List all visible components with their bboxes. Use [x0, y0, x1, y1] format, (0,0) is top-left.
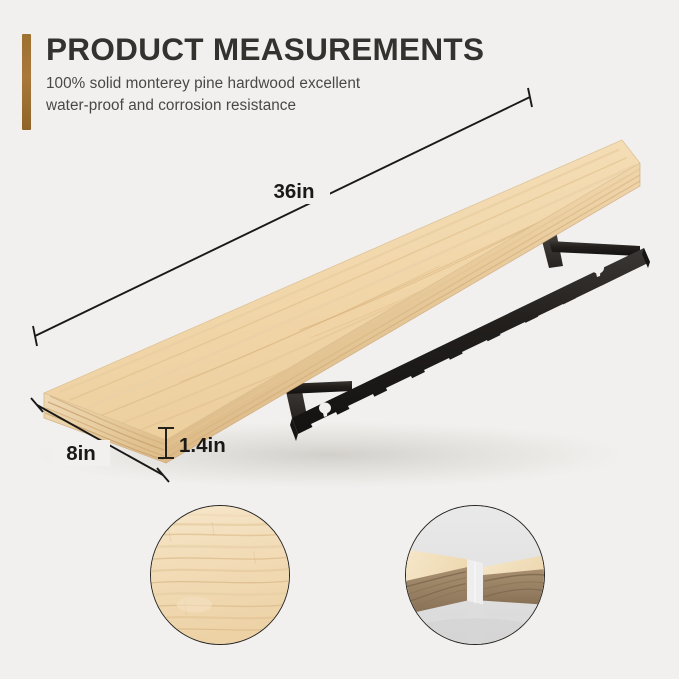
wall-mount-bracket — [283, 231, 650, 441]
shelf-left-end — [44, 393, 166, 463]
dimension-length — [33, 88, 532, 346]
dimension-label-depth: 8in — [66, 442, 96, 465]
page-title: PRODUCT MEASUREMENTS — [46, 32, 562, 66]
detail-circle-grain — [150, 505, 290, 645]
dimension-tick-left — [33, 326, 37, 346]
detail-circle-edge — [405, 505, 545, 645]
header: PRODUCT MEASUREMENTS 100% solid monterey… — [22, 32, 562, 116]
shelf-board — [44, 140, 650, 463]
label-backdrop-length — [258, 178, 330, 204]
shelf-end-grain-lines — [45, 396, 164, 460]
dimension-tick-depth-start — [31, 398, 43, 412]
shelf-shadow — [30, 421, 630, 489]
product-measurement-infographic: PRODUCT MEASUREMENTS 100% solid monterey… — [0, 0, 679, 679]
dimension-label-thickness: 1.4in — [179, 434, 226, 457]
edge-closeup-image — [406, 506, 544, 644]
subtitle-line-2: water-proof and corrosion resistance — [46, 95, 562, 117]
shelf-top-grain — [52, 142, 650, 430]
dimension-tick-depth-end — [157, 468, 169, 482]
shelf-top-face — [44, 140, 640, 440]
bracket-rail — [292, 248, 650, 434]
header-text: PRODUCT MEASUREMENTS 100% solid monterey… — [46, 32, 562, 116]
dimension-thickness — [158, 428, 174, 458]
dimension-label-length: 36in — [273, 180, 314, 203]
shelf-front-edge — [166, 163, 640, 463]
bracket-keyholes — [319, 263, 604, 418]
bracket-slots — [311, 270, 636, 428]
label-backdrop-depth — [52, 440, 110, 466]
dimension-line-length — [35, 97, 530, 336]
shelf-front-grain — [166, 169, 640, 458]
grain-closeup-image — [151, 506, 289, 644]
accent-bar — [22, 34, 31, 130]
dimension-depth — [31, 398, 169, 482]
dimension-line-depth — [37, 405, 163, 475]
subtitle-line-1: 100% solid monterey pine hardwood excell… — [46, 73, 562, 95]
